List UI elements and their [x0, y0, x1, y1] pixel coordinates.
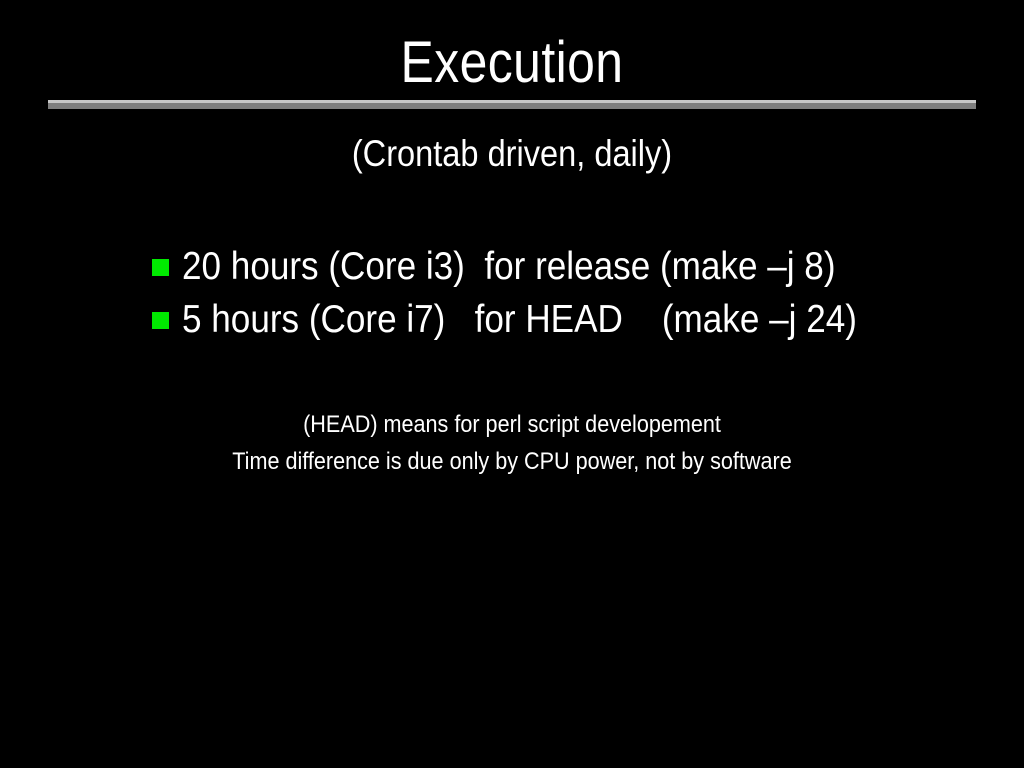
slide-subtitle: (Crontab driven, daily) [61, 132, 962, 176]
list-item: 20 hours (Core i3) for release (make –j … [152, 240, 1012, 293]
green-square-bullet-icon [152, 312, 169, 329]
bullet-list: 20 hours (Core i3) for release (make –j … [152, 240, 1012, 346]
footnote-line-1: (HEAD) means for perl script developemen… [51, 406, 973, 443]
bullet-item-label: 20 hours (Core i3) for release (make –j … [182, 244, 836, 290]
title-divider-rule [48, 100, 976, 109]
presentation-slide: Execution (Crontab driven, daily) 20 hou… [0, 0, 1024, 768]
footnote-line-2: Time difference is due only by CPU power… [51, 443, 973, 480]
green-square-bullet-icon [152, 259, 169, 276]
list-item: 5 hours (Core i7) for HEAD (make –j 24) [152, 293, 1012, 346]
title-divider-shadow [48, 103, 976, 109]
footnote-block: (HEAD) means for perl script developemen… [0, 406, 1024, 480]
bullet-item-label: 5 hours (Core i7) for HEAD (make –j 24) [182, 297, 857, 343]
slide-title: Execution [72, 32, 953, 94]
